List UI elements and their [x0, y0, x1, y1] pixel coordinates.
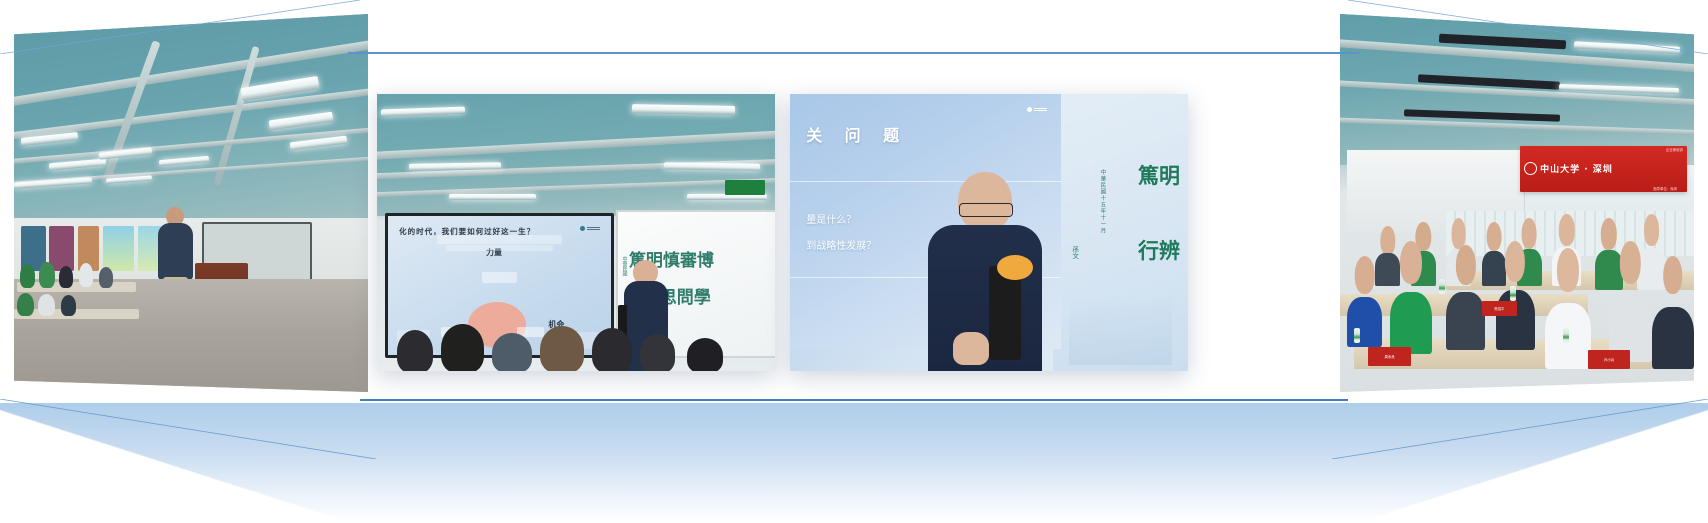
slide-logo — [1027, 107, 1047, 112]
frame-line-top-center — [348, 52, 1360, 54]
banner-bottom-text: 指导单位：深圳 — [1653, 186, 1677, 191]
name-tag: 陈绍平 — [1482, 301, 1517, 316]
name-tag: 孙小兵 — [1588, 350, 1630, 369]
participant — [1446, 245, 1485, 351]
calligraphy-line-2: 行辨 — [1138, 238, 1180, 264]
frame-line-bottom-left — [0, 399, 376, 459]
reflection-mask-left — [0, 401, 380, 523]
calligraphy-seal-text: 孫文 — [1069, 246, 1079, 259]
participant — [1609, 241, 1651, 362]
photo-audience-rows: 中山大学 · 深圳 企业家培训 指导单位：深圳 — [1340, 14, 1694, 392]
participant — [1545, 248, 1591, 369]
photo-classroom-wide — [14, 14, 368, 392]
frame-line-bottom-right — [1332, 399, 1708, 459]
microphone-windscreen — [997, 255, 1033, 280]
carousel-slide-1[interactable] — [14, 14, 368, 392]
slide-logo — [580, 226, 600, 231]
participant — [1390, 241, 1432, 354]
participant — [1347, 256, 1382, 347]
carousel-slide-2[interactable]: 化的时代，我们要如何过好这一生？ 力量 机会 中華民國 — [377, 94, 775, 371]
slide-title-text: 关 问 题 — [806, 122, 908, 146]
photo-speaker-portrait: 关 问 题 量是什么？ 到战略性发展？ 中華民國十五年十一月 孫文 篤明 行辨 — [790, 94, 1188, 371]
banner-main-text: 中山大学 · 深圳 — [1540, 162, 1613, 175]
calligraphy-side-text: 中華民國十五年十一月 — [1098, 169, 1106, 234]
gallery-carousel: 化的时代，我们要如何过好这一生？ 力量 机会 中華民國 — [0, 0, 1708, 523]
audience-foreground — [377, 321, 775, 371]
slide-question-2: 到战略性发展？ — [806, 237, 876, 252]
banner-top-text: 企业家培训 — [1666, 147, 1683, 152]
frame-line-bottom-center — [360, 399, 1348, 401]
carousel-slide-4[interactable]: 中山大学 · 深圳 企业家培训 指导单位：深圳 — [1340, 14, 1694, 392]
event-banner: 中山大学 · 深圳 企业家培训 指导单位：深圳 — [1520, 146, 1687, 191]
university-crest-icon — [1524, 162, 1537, 175]
microphone — [989, 266, 1021, 360]
slide-question-1: 量是什么？ — [806, 211, 856, 226]
carousel-slide-3[interactable]: 关 问 题 量是什么？ 到战略性发展？ 中華民國十五年十一月 孫文 篤明 行辨 — [790, 94, 1188, 371]
name-tag: 周永良 — [1368, 347, 1410, 366]
seated-audience — [14, 248, 156, 346]
reflection-gradient — [0, 403, 1708, 523]
reflection-mask-right — [1328, 401, 1708, 523]
wall-sketch-graphic — [1069, 293, 1172, 365]
calligraphy-line-1: 篤明 — [1138, 163, 1180, 189]
exit-sign — [725, 180, 765, 195]
photo-lecture-projection: 化的时代，我们要如何过好这一生？ 力量 机会 中華民國 — [377, 94, 775, 371]
participant — [1652, 256, 1694, 369]
